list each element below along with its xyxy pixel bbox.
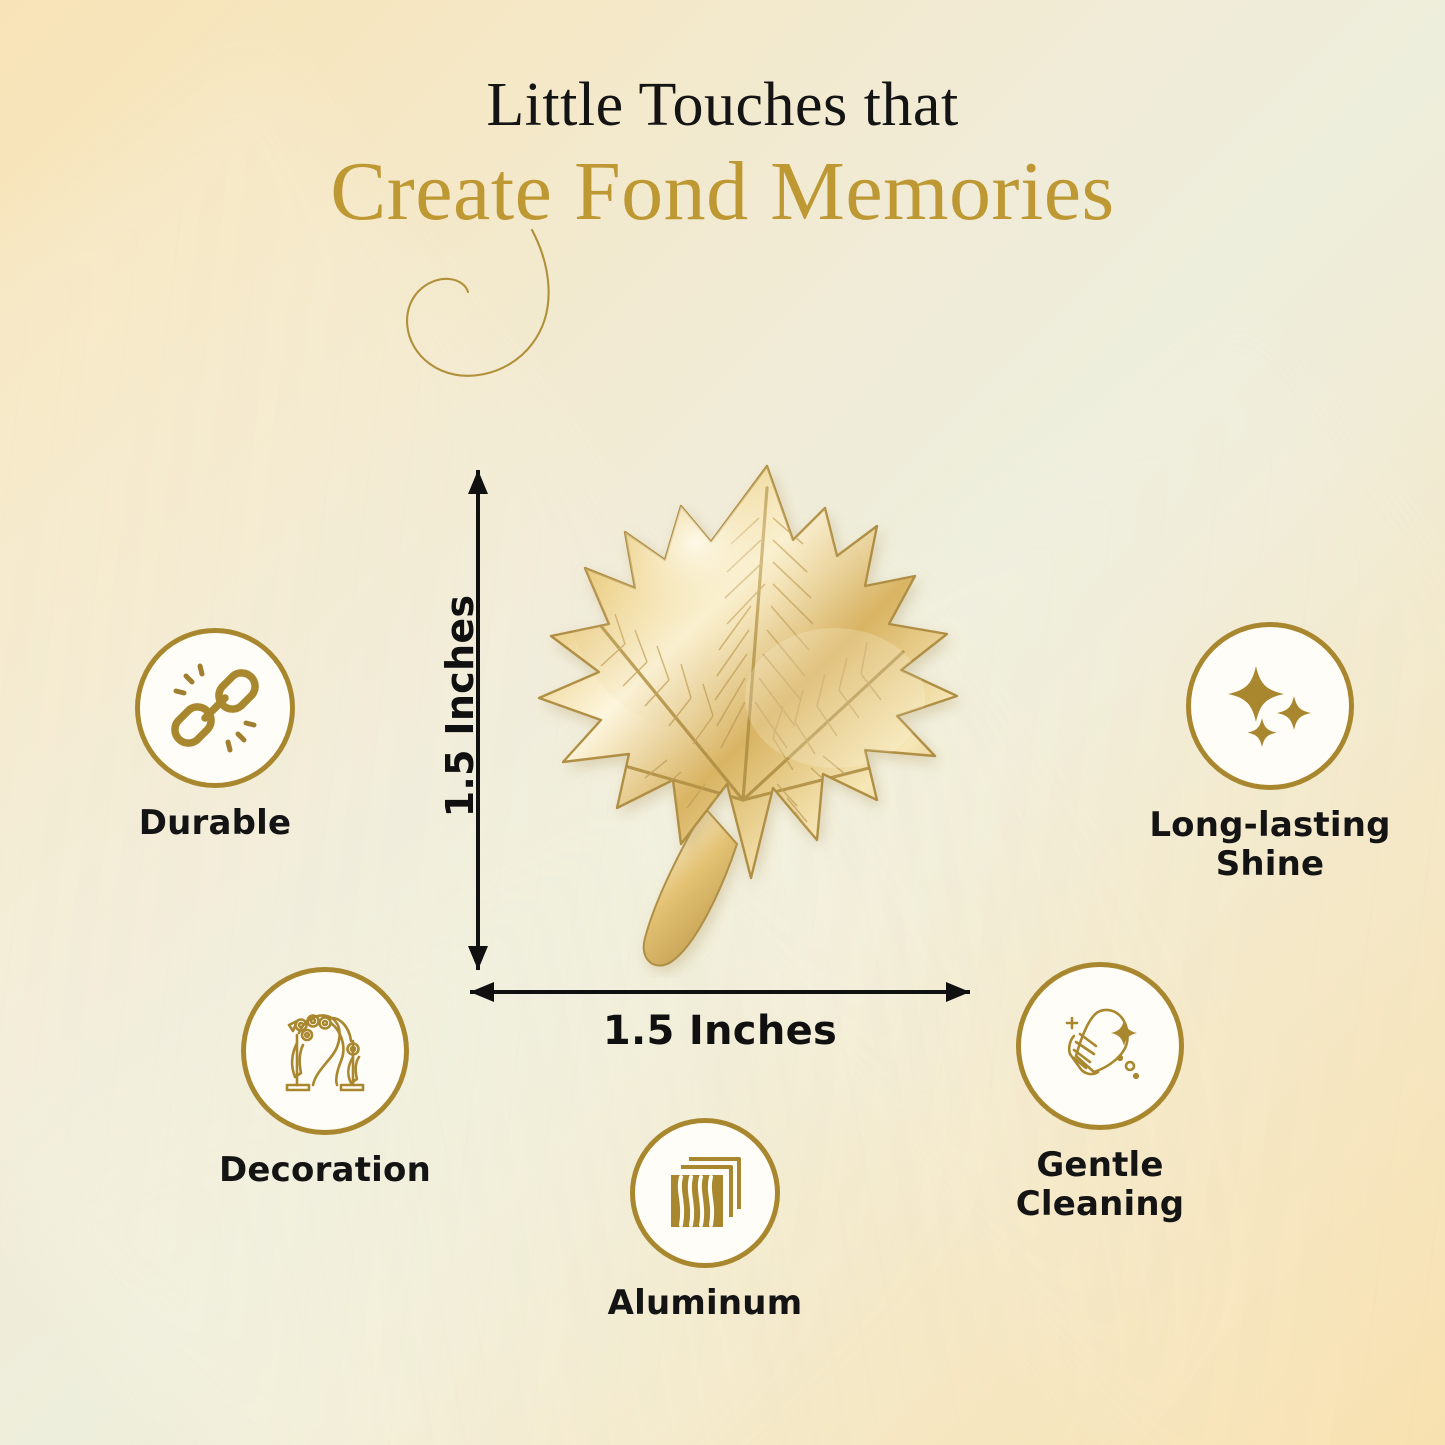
wedding-arch-icon xyxy=(275,1001,375,1101)
sparkles-icon xyxy=(1220,656,1320,756)
feature-label-aluminum: Aluminum xyxy=(560,1284,850,1323)
dimension-height-label: 1.5 Inches xyxy=(438,526,482,886)
feature-label-cleaning: Gentle Cleaning xyxy=(935,1146,1265,1225)
chain-link-icon xyxy=(167,660,263,756)
feature-label-durable: Durable xyxy=(60,804,370,843)
hand-wipe-icon xyxy=(1050,996,1150,1096)
feature-badge-decoration xyxy=(241,967,409,1135)
feature-durable: Durable xyxy=(60,628,370,843)
feature-badge-shine xyxy=(1186,622,1354,790)
feature-badge-aluminum xyxy=(630,1118,780,1268)
dimension-width: 1.5 Inches xyxy=(470,968,970,1068)
metal-sheets-icon xyxy=(659,1147,751,1239)
feature-decoration: Decoration xyxy=(160,967,490,1190)
dimension-width-label: 1.5 Inches xyxy=(470,1008,970,1054)
feature-cleaning: Gentle Cleaning xyxy=(935,962,1265,1225)
dimension-height: 1.5 Inches xyxy=(430,470,520,970)
title-line-2: Create Fond Memories xyxy=(0,148,1445,236)
product-image-gold-maple-leaf xyxy=(505,448,985,978)
title-line-1: Little Touches that xyxy=(0,74,1445,136)
swirl-flourish-icon xyxy=(382,226,572,396)
feature-badge-durable xyxy=(135,628,295,788)
infographic-canvas: Little Touches that Create Fond Memories xyxy=(0,0,1445,1445)
feature-badge-cleaning xyxy=(1016,962,1184,1130)
page-title: Little Touches that Create Fond Memories xyxy=(0,74,1445,236)
feature-label-decoration: Decoration xyxy=(160,1151,490,1190)
feature-label-shine: Long-lasting Shine xyxy=(1105,806,1435,885)
feature-shine: Long-lasting Shine xyxy=(1105,622,1435,885)
feature-aluminum: Aluminum xyxy=(560,1118,850,1323)
